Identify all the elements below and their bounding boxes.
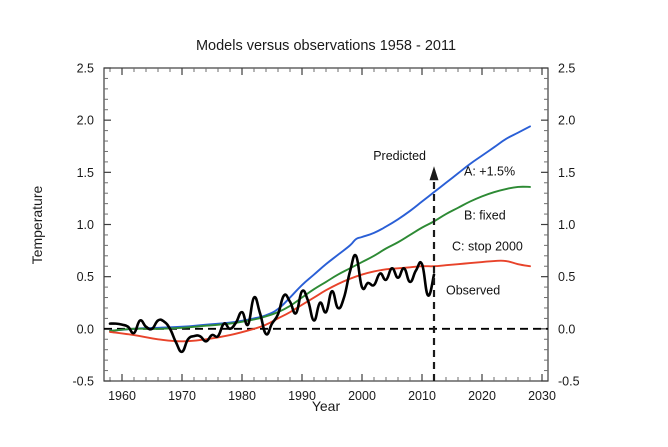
y-tick-label-right: 1.0	[558, 218, 575, 232]
x-tick-label: 1980	[228, 389, 256, 403]
y-tick-label-left: 2.5	[77, 62, 94, 76]
y-axis-title: Temperature	[29, 185, 45, 264]
y-tick-label-right: 2.0	[558, 114, 575, 128]
annotation-scenario-c: C: stop 2000	[452, 240, 523, 254]
y-tick-label-left: 1.0	[77, 218, 94, 232]
annotation-predicted: Predicted	[373, 149, 426, 163]
y-tick-label-left: 0.0	[77, 322, 94, 336]
annotation-scenario-b: B: fixed	[464, 208, 506, 222]
x-tick-label: 2020	[468, 389, 496, 403]
y-tick-label-right: 2.5	[558, 62, 575, 76]
x-tick-label: 1970	[168, 389, 196, 403]
annotation-scenario-a: A: +1.5%	[464, 164, 515, 178]
y-tick-label-left: 0.5	[77, 270, 94, 284]
chart-figure: Models versus observations 1958 - 2011 1…	[0, 0, 668, 447]
x-tick-label: 2030	[528, 389, 556, 403]
x-tick-label: 2010	[408, 389, 436, 403]
y-tick-label-right: 1.5	[558, 166, 575, 180]
x-tick-label: 1960	[108, 389, 136, 403]
temperature-chart: Models versus observations 1958 - 2011 1…	[0, 0, 668, 447]
y-tick-label-left: -0.5	[72, 375, 94, 389]
y-tick-label-right: 0.5	[558, 270, 575, 284]
y-tick-label-left: 1.5	[77, 166, 94, 180]
x-tick-label: 2000	[348, 389, 376, 403]
x-axis-title: Year	[312, 398, 341, 414]
y-tick-label-right: 0.0	[558, 322, 575, 336]
y-tick-label-left: 2.0	[77, 114, 94, 128]
annotation-observed: Observed	[446, 283, 500, 297]
y-tick-label-right: -0.5	[558, 375, 580, 389]
chart-title: Models versus observations 1958 - 2011	[196, 38, 456, 54]
